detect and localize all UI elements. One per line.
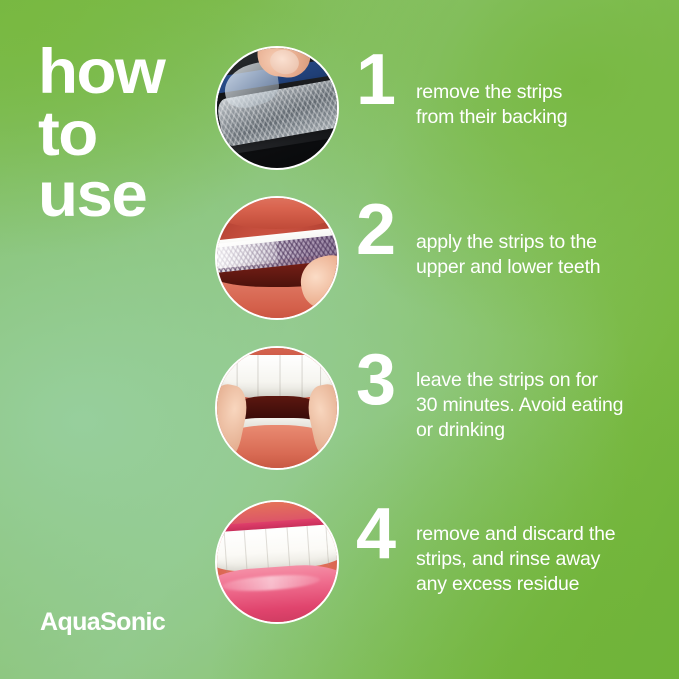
headline-line-3: use: [38, 165, 164, 227]
step-4-text: remove and discard the strips, and rinse…: [416, 522, 674, 597]
step-1-number: 1: [356, 44, 414, 116]
step-3-text-line-2: 30 minutes. Avoid eating: [416, 393, 674, 418]
step-4-text-line-1: remove and discard the: [416, 522, 674, 547]
step-3-text-line-3: or drinking: [416, 418, 674, 443]
step-3-text: leave the strips on for 30 minutes. Avoi…: [416, 368, 674, 443]
page-title: how to use: [38, 42, 159, 227]
step-1-text-line-1: remove the strips: [416, 80, 674, 105]
photo-strips-on-teeth-waiting: [217, 348, 337, 468]
photo-apply-strip-to-teeth: [217, 198, 337, 318]
step-3-number: 3: [356, 344, 414, 416]
step-2-text-line-1: apply the strips to the: [416, 230, 674, 255]
step-item-3: 3 leave the strips on for 30 minutes. Av…: [0, 346, 679, 496]
how-to-use-infographic: how to use 1 remove the strips from thei…: [0, 0, 679, 679]
brand-logo: AquaSonic: [40, 608, 165, 637]
step-1-photo-circle: [215, 46, 339, 170]
headline-line-1: how: [38, 42, 164, 104]
step-3-photo-circle: [215, 346, 339, 470]
step-4-photo-circle: [215, 500, 339, 624]
step-2-text: apply the strips to the upper and lower …: [416, 230, 674, 280]
step-2-text-line-2: upper and lower teeth: [416, 255, 674, 280]
step-4-text-line-3: any excess residue: [416, 572, 674, 597]
step-1-text-line-2: from their backing: [416, 105, 674, 130]
step-3-text-line-1: leave the strips on for: [416, 368, 674, 393]
step-2-photo-circle: [215, 196, 339, 320]
step-4-text-line-2: strips, and rinse away: [416, 547, 674, 572]
step-1-text: remove the strips from their backing: [416, 80, 674, 130]
step-4-number: 4: [356, 498, 414, 570]
photo-finished-white-smile: [217, 502, 337, 622]
headline-line-2: to: [38, 104, 164, 166]
photo-peel-strip-from-backing: [217, 48, 337, 168]
step-2-number: 2: [356, 194, 414, 266]
